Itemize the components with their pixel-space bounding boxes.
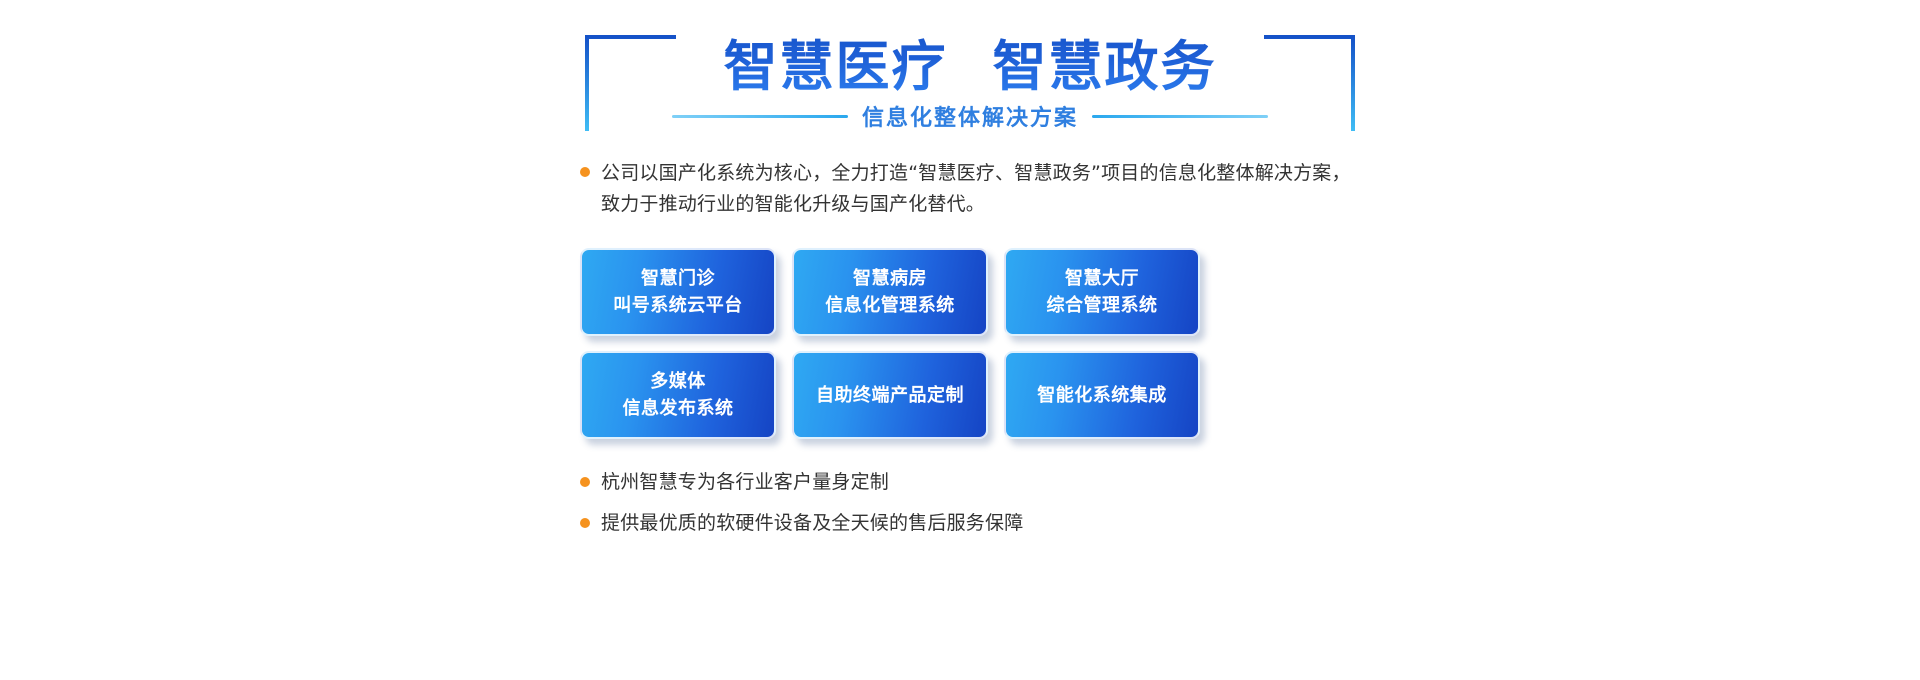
solution-card[interactable]: 智能化系统集成 (1004, 351, 1200, 439)
card-line-1: 智慧大厅 (1065, 268, 1139, 289)
solution-card[interactable]: 智慧门诊 叫号系统云平台 (580, 248, 776, 336)
bullet-dot-icon (580, 518, 590, 528)
solution-card-grid: 智慧门诊 叫号系统云平台 智慧病房 信息化管理系统 智慧大厅 综合管理系统 多媒… (580, 248, 1200, 439)
page-title: 智慧医疗 智慧政务 (580, 22, 1360, 101)
bullet-dot-icon (580, 167, 590, 177)
card-line-1: 智慧病房 (853, 268, 927, 289)
card-line-2: 信息发布系统 (623, 395, 734, 422)
card-label: 智慧门诊 叫号系统云平台 (605, 265, 751, 319)
card-line-2: 综合管理系统 (1047, 292, 1158, 319)
list-item: 提供最优质的软硬件设备及全天候的售后服务保障 (580, 511, 1360, 535)
content-column: 智慧医疗 智慧政务 信息化整体解决方案 公司以国产化系统为核心，全力打造“智慧医… (580, 0, 1360, 680)
card-line-1: 智慧门诊 (641, 268, 715, 289)
solution-card[interactable]: 自助终端产品定制 (792, 351, 988, 439)
intro-text: 公司以国产化系统为核心，全力打造“智慧医疗、智慧政务”项目的信息化整体解决方案，… (601, 158, 1356, 220)
card-label: 多媒体 信息发布系统 (615, 368, 742, 422)
bullet-text: 杭州智慧专为各行业客户量身定制 (601, 470, 889, 494)
card-label: 自助终端产品定制 (808, 382, 972, 409)
title-part-1: 智慧医疗 (724, 22, 948, 101)
card-line-2: 叫号系统云平台 (613, 292, 743, 319)
card-label: 智能化系统集成 (1029, 382, 1175, 409)
subtitle-rule-right (1092, 115, 1268, 118)
card-line-2: 信息化管理系统 (825, 292, 955, 319)
intro-paragraph: 公司以国产化系统为核心，全力打造“智慧医疗、智慧政务”项目的信息化整体解决方案，… (580, 158, 1370, 220)
solution-card[interactable]: 多媒体 信息发布系统 (580, 351, 776, 439)
title-part-2: 智慧政务 (992, 22, 1216, 101)
solution-card[interactable]: 智慧大厅 综合管理系统 (1004, 248, 1200, 336)
subtitle-text: 信息化整体解决方案 (862, 100, 1078, 132)
card-label: 智慧大厅 综合管理系统 (1039, 265, 1166, 319)
list-item: 杭州智慧专为各行业客户量身定制 (580, 470, 1360, 494)
card-line-1: 智能化系统集成 (1037, 385, 1167, 406)
header-block: 智慧医疗 智慧政务 信息化整体解决方案 (580, 0, 1360, 140)
card-line-1: 多媒体 (650, 371, 706, 392)
bullet-dot-icon (580, 477, 590, 487)
card-label: 智慧病房 信息化管理系统 (817, 265, 963, 319)
bullet-text: 提供最优质的软硬件设备及全天候的售后服务保障 (601, 511, 1023, 535)
feature-bullet-list: 杭州智慧专为各行业客户量身定制 提供最优质的软硬件设备及全天候的售后服务保障 (580, 470, 1360, 552)
promo-banner: 智慧医疗 智慧政务 信息化整体解决方案 公司以国产化系统为核心，全力打造“智慧医… (0, 0, 1920, 680)
card-line-1: 自助终端产品定制 (816, 385, 964, 406)
subtitle-row: 信息化整体解决方案 (580, 100, 1360, 132)
solution-card[interactable]: 智慧病房 信息化管理系统 (792, 248, 988, 336)
subtitle-rule-left (672, 115, 848, 118)
